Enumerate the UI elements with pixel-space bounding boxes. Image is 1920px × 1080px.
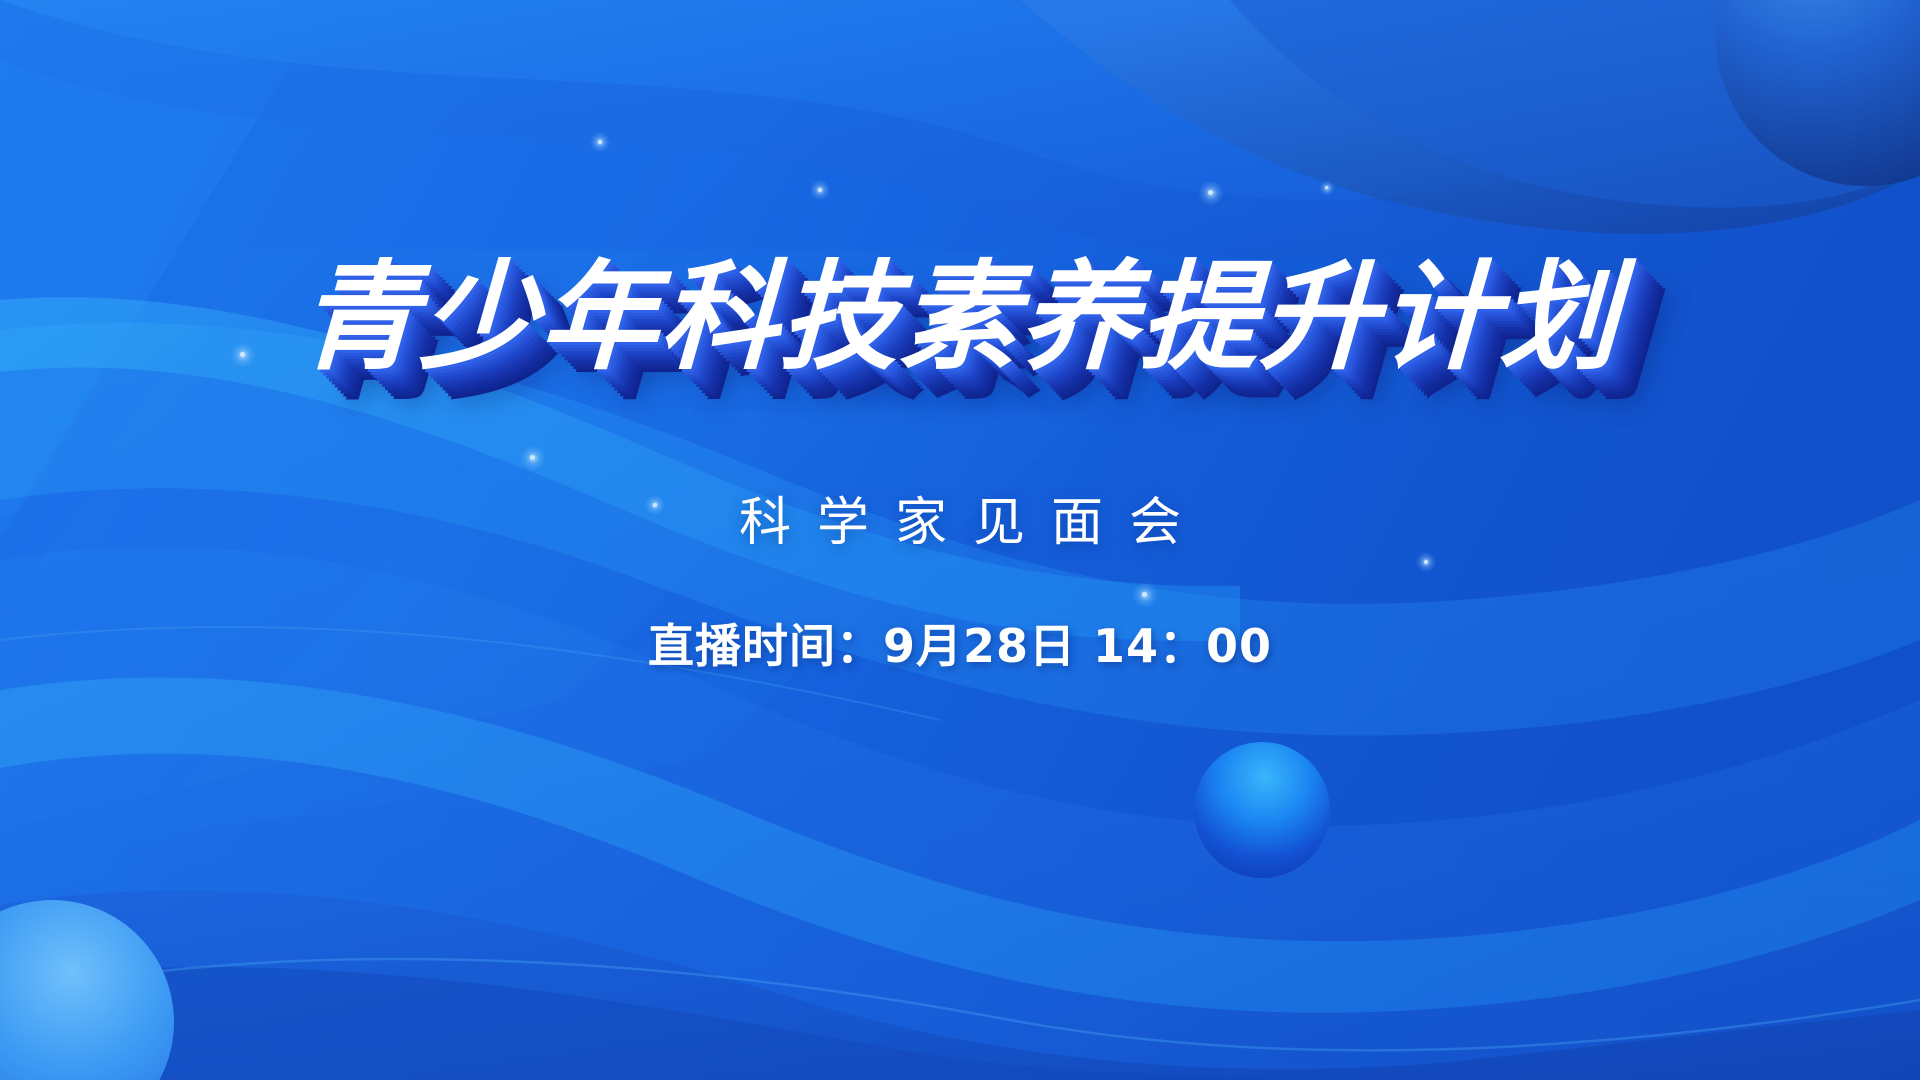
subtitle: 科学家见面会	[0, 480, 1920, 555]
title-container: 青少年科技素养提升计划	[0, 258, 1920, 376]
main-title: 青少年科技素养提升计划	[298, 258, 1622, 376]
live-time-text: 直播时间：9月28日 14：00	[0, 610, 1920, 676]
poster-content: 青少年科技素养提升计划 科学家见面会 直播时间：9月28日 14：00	[0, 0, 1920, 1080]
poster-canvas: 青少年科技素养提升计划 科学家见面会 直播时间：9月28日 14：00	[0, 0, 1920, 1080]
